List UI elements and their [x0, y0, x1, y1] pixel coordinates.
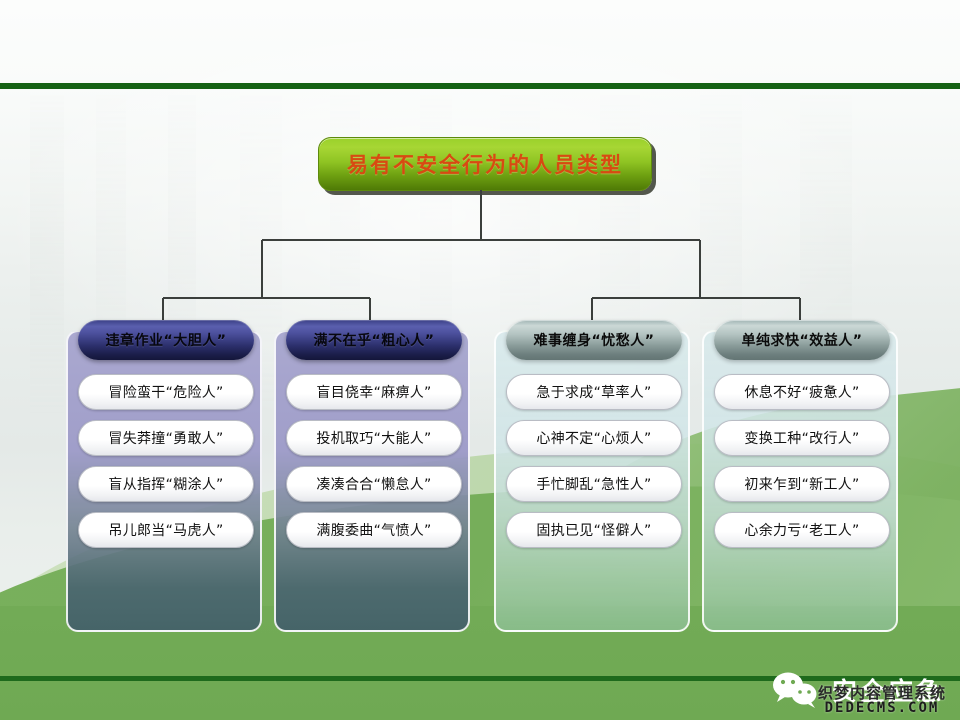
watermark: 织梦内容管理系统 DEDECMS.COM [818, 686, 946, 716]
list-item[interactable]: 休息不好“疲惫人” [714, 374, 890, 410]
list-item[interactable]: 凑凑合合“懒怠人” [286, 466, 462, 502]
top-green-rule [0, 83, 960, 89]
column-header-label-3: 难事缠身“忧愁人” [534, 330, 655, 350]
column-header-1[interactable]: 违章作业“大胆人” [78, 320, 254, 360]
list-item-label: 手忙脚乱“急性人” [536, 474, 651, 494]
list-item-label: 盲目侥幸“麻痹人” [316, 382, 431, 402]
list-item-label: 冒险蛮干“危险人” [108, 382, 223, 402]
column-items-1: 冒险蛮干“危险人” 冒失莽撞“勇敢人” 盲从指挥“糊涂人” 吊儿郎当“马虎人” [78, 374, 254, 548]
watermark-line-2: DEDECMS.COM [818, 701, 946, 716]
list-item-label: 固执已见“怪僻人” [536, 520, 651, 540]
diagram-title-box: 易有不安全行为的人员类型 [318, 137, 652, 191]
page-title: 易有不安全行为的人员类型 [347, 149, 623, 179]
list-item-label: 休息不好“疲惫人” [744, 382, 859, 402]
list-item-label: 急于求成“草率人” [536, 382, 651, 402]
column-header-label-1: 违章作业“大胆人” [106, 330, 227, 350]
column-panel-1[interactable]: 违章作业“大胆人” 冒险蛮干“危险人” 冒失莽撞“勇敢人” 盲从指挥“糊涂人” … [66, 330, 262, 632]
list-item-label: 盲从指挥“糊涂人” [108, 474, 223, 494]
list-item[interactable]: 心余力亏“老工人” [714, 512, 890, 548]
list-item-label: 初来乍到“新工人” [744, 474, 859, 494]
list-item[interactable]: 投机取巧“大能人” [286, 420, 462, 456]
slide-canvas: 易有不安全行为的人员类型 违章作业“大胆人” 冒险蛮干“危险人” 冒失莽撞“勇 [0, 0, 960, 720]
list-item[interactable]: 盲目侥幸“麻痹人” [286, 374, 462, 410]
list-item-label: 心神不定“心烦人” [536, 428, 651, 448]
list-item[interactable]: 急于求成“草率人” [506, 374, 682, 410]
list-item[interactable]: 盲从指挥“糊涂人” [78, 466, 254, 502]
list-item[interactable]: 满腹委曲“气愤人” [286, 512, 462, 548]
wechat-icon [770, 670, 822, 710]
column-header-3[interactable]: 难事缠身“忧愁人” [506, 320, 682, 360]
list-item-label: 变换工种“改行人” [744, 428, 859, 448]
list-item[interactable]: 冒失莽撞“勇敢人” [78, 420, 254, 456]
column-header-2[interactable]: 满不在乎“粗心人” [286, 320, 462, 360]
list-item-label: 投机取巧“大能人” [316, 428, 431, 448]
column-header-4[interactable]: 单纯求快“效益人” [714, 320, 890, 360]
column-header-label-4: 单纯求快“效益人” [742, 330, 863, 350]
column-header-label-2: 满不在乎“粗心人” [314, 330, 435, 350]
list-item-label: 冒失莽撞“勇敢人” [108, 428, 223, 448]
list-item[interactable]: 手忙脚乱“急性人” [506, 466, 682, 502]
column-items-3: 急于求成“草率人” 心神不定“心烦人” 手忙脚乱“急性人” 固执已见“怪僻人” [506, 374, 682, 548]
column-panel-3[interactable]: 难事缠身“忧愁人” 急于求成“草率人” 心神不定“心烦人” 手忙脚乱“急性人” … [494, 330, 690, 632]
column-panel-2[interactable]: 满不在乎“粗心人” 盲目侥幸“麻痹人” 投机取巧“大能人” 凑凑合合“懒怠人” … [274, 330, 470, 632]
column-items-2: 盲目侥幸“麻痹人” 投机取巧“大能人” 凑凑合合“懒怠人” 满腹委曲“气愤人” [286, 374, 462, 548]
column-panel-4[interactable]: 单纯求快“效益人” 休息不好“疲惫人” 变换工种“改行人” 初来乍到“新工人” … [702, 330, 898, 632]
list-item-label: 满腹委曲“气愤人” [316, 520, 431, 540]
list-item[interactable]: 初来乍到“新工人” [714, 466, 890, 502]
list-item[interactable]: 心神不定“心烦人” [506, 420, 682, 456]
list-item[interactable]: 变换工种“改行人” [714, 420, 890, 456]
list-item[interactable]: 固执已见“怪僻人” [506, 512, 682, 548]
list-item-label: 凑凑合合“懒怠人” [316, 474, 431, 494]
list-item[interactable]: 冒险蛮干“危险人” [78, 374, 254, 410]
list-item[interactable]: 吊儿郎当“马虎人” [78, 512, 254, 548]
list-item-label: 吊儿郎当“马虎人” [108, 520, 223, 540]
watermark-line-1: 织梦内容管理系统 [818, 686, 946, 702]
column-items-4: 休息不好“疲惫人” 变换工种“改行人” 初来乍到“新工人” 心余力亏“老工人” [714, 374, 890, 548]
list-item-label: 心余力亏“老工人” [744, 520, 859, 540]
